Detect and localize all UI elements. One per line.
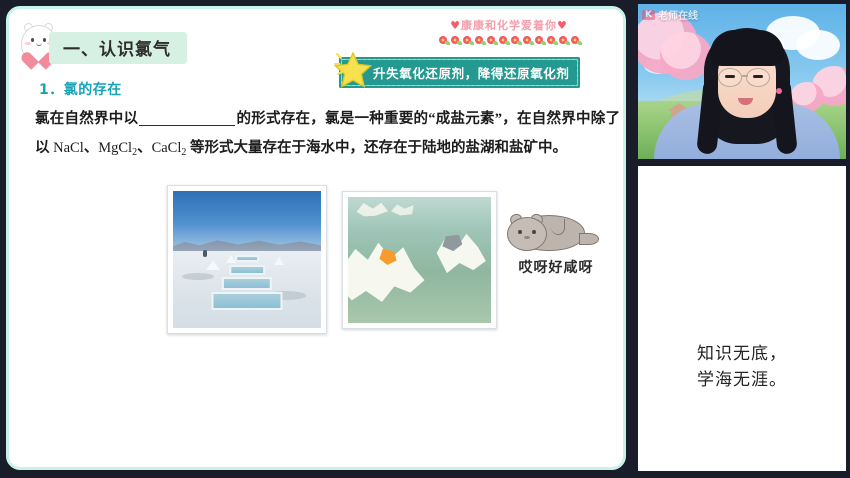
sticker-caption: 哎呀好咸呀 <box>507 257 605 277</box>
flower-icon <box>523 36 531 44</box>
mascot-eye-right <box>43 38 46 42</box>
app-root: 一、认识氯气 1．氯的存在 ♥康康和化学爱着你♥ <box>0 0 850 478</box>
formula-cacl2: CaCl2 <box>152 140 187 156</box>
flower-icon <box>571 36 579 44</box>
photo-sky <box>173 191 321 249</box>
salt-crystal-photo-image <box>348 197 491 323</box>
salt-flat-photo[interactable] <box>167 185 327 334</box>
heart-icon-left: ♥ <box>450 19 461 32</box>
photo-brine-pool <box>235 255 259 262</box>
salt-crystal-photo[interactable] <box>342 191 497 329</box>
lesson-slide: 一、认识氯气 1．氯的存在 ♥康康和化学爱着你♥ <box>6 6 626 470</box>
slide-area: 一、认识氯气 1．氯的存在 ♥康康和化学爱着你♥ <box>0 0 632 478</box>
flower-icon <box>547 36 555 44</box>
tip-banner: 升失氧化还原剂，降得还原氧化剂 <box>339 57 580 88</box>
body-paragraph: 氯在自然界中以的形式存在，氯是一种重要的“成盐元素”，在自然界中除了以 NaCl… <box>35 105 620 167</box>
seal-nose <box>524 236 530 239</box>
flower-icon <box>451 36 459 44</box>
flower-decoration-row <box>409 36 609 44</box>
formula-separator-1: 、 <box>84 140 99 156</box>
seal-flipper <box>551 219 565 235</box>
star-icon <box>333 50 373 90</box>
photo-brine-pool <box>211 292 282 310</box>
photo-brine-pool <box>222 277 272 289</box>
tip-banner-text: 升失氧化还原剂，降得还原氧化剂 <box>339 57 580 88</box>
seal-eye-right <box>532 230 536 234</box>
formula-cacl2-base: CaCl <box>152 140 182 156</box>
flower-icon <box>439 36 447 44</box>
earring-icon <box>776 88 782 94</box>
note-card: 知识无底， 学海无涯。 <box>638 166 846 471</box>
seal-character-icon: 哎呀好咸呀 <box>507 213 605 283</box>
formula-mgcl2-base: MgCl <box>98 140 132 156</box>
heart-icon <box>28 45 49 64</box>
photo-salt-ground <box>173 251 321 328</box>
decorative-header: ♥康康和化学爱着你♥ <box>409 17 609 44</box>
photo-salt-pile <box>206 260 220 270</box>
photo-figure <box>203 250 207 257</box>
flower-icon <box>499 36 507 44</box>
salt-flat-photo-image <box>173 191 321 328</box>
flower-icon <box>535 36 543 44</box>
formula-nacl: NaCl <box>53 140 84 156</box>
flower-icon <box>463 36 471 44</box>
flower-icon <box>559 36 567 44</box>
teacher-eye-right <box>753 75 763 78</box>
teacher-hair-front <box>710 30 784 66</box>
mascot-eye-left <box>31 38 34 42</box>
teacher-eye-left <box>725 75 735 78</box>
formula-mgcl2: MgCl2 <box>98 140 137 156</box>
video-badge-icon: K <box>642 10 655 20</box>
formula-separator-2: 、 <box>137 140 152 156</box>
seal-eye-left <box>518 230 522 234</box>
video-status-text: 老师在线 <box>658 7 698 22</box>
glasses-bridge <box>742 75 748 77</box>
side-panel: K 老师在线 知识无底， 学海无涯。 <box>636 0 850 478</box>
flower-icon <box>511 36 519 44</box>
paragraph-part-3: 等形式大量存在于海水中，还存在于陆地的盐湖和盐矿中。 <box>186 140 567 156</box>
sub-heading: 1．氯的存在 <box>39 79 122 99</box>
video-overlay-label: K 老师在线 <box>642 7 698 22</box>
teacher-avatar <box>688 28 804 159</box>
seal-tail <box>579 233 599 245</box>
teacher-video-feed[interactable]: K 老师在线 <box>638 4 846 159</box>
decorative-greeting-text: 康康和化学爱着你 <box>461 19 557 32</box>
flower-icon <box>487 36 495 44</box>
photo-salt-pile <box>274 257 284 265</box>
heart-icon-right: ♥ <box>557 19 568 32</box>
decorative-greeting: ♥康康和化学爱着你♥ <box>409 17 609 33</box>
fill-in-blank[interactable] <box>139 125 235 126</box>
flower-icon <box>475 36 483 44</box>
seal-head <box>507 217 547 251</box>
note-text: 知识无底， 学海无涯。 <box>697 341 787 393</box>
page-title: 一、认识氯气 <box>49 32 187 64</box>
photo-brine-pool <box>229 265 265 275</box>
paragraph-part-1: 氯在自然界中以 <box>35 111 138 127</box>
